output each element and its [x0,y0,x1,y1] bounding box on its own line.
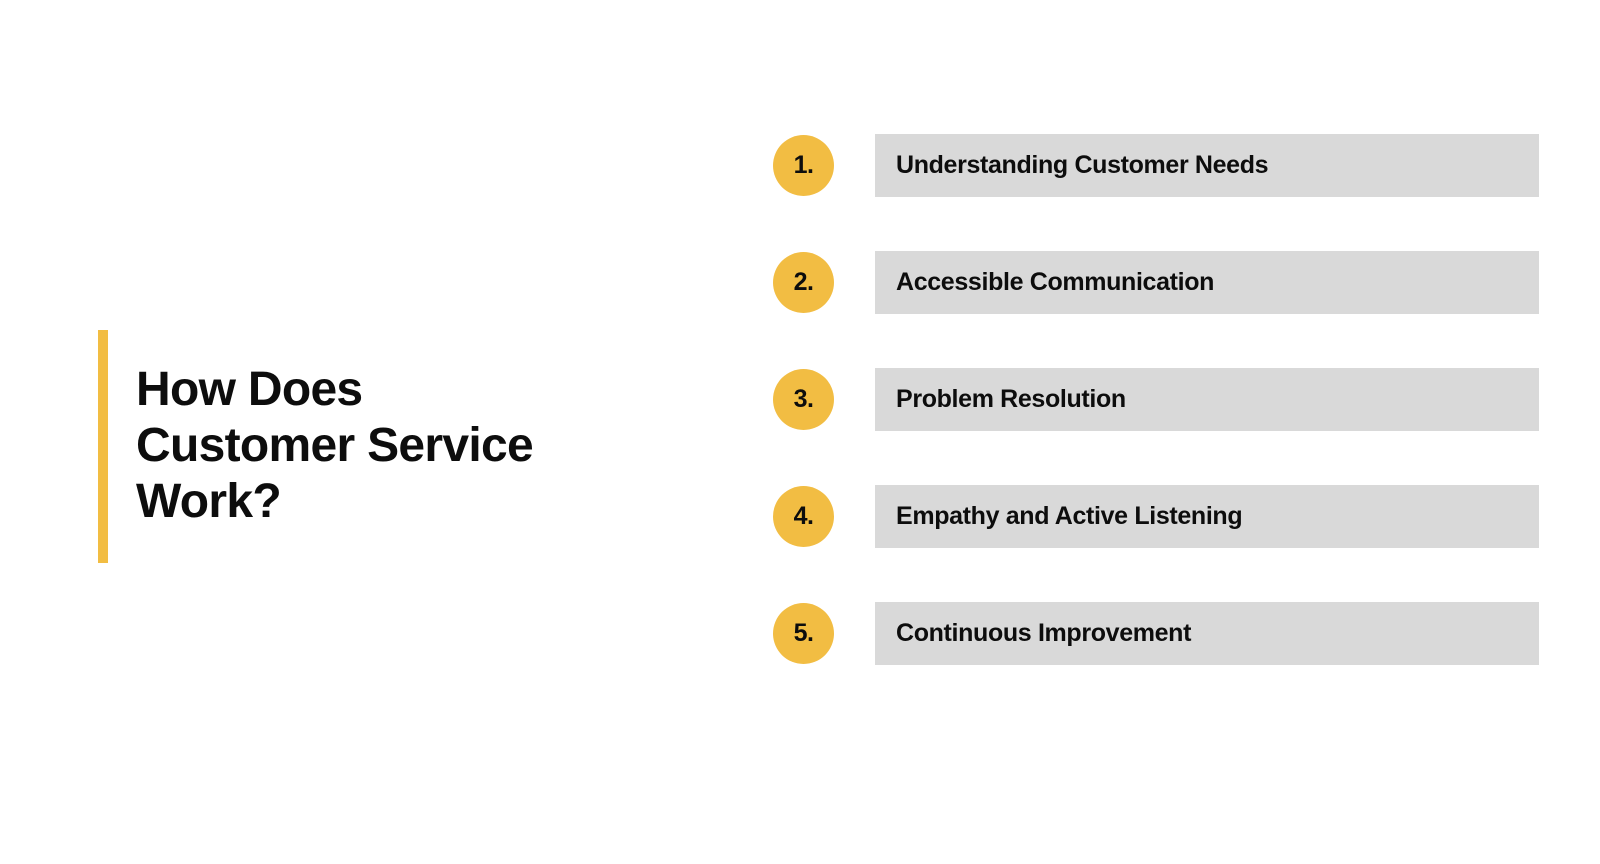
step-number-badge: 4. [773,486,834,547]
step-label: Continuous Improvement [875,620,1209,648]
step-number-label: 1. [794,153,814,178]
step-number-badge: 1. [773,135,834,196]
title-block: How Does Customer Service Work? [98,330,533,563]
step-number-label: 2. [794,270,814,295]
step-label: Accessible Communication [875,269,1232,297]
step-number-badge: 2. [773,252,834,313]
list-item[interactable]: 2. Accessible Communication [773,251,1539,314]
step-bar[interactable]: Continuous Improvement [875,602,1539,665]
step-label: Understanding Customer Needs [875,152,1286,180]
slide-canvas: How Does Customer Service Work? 1. Under… [0,0,1600,864]
step-number-label: 5. [794,621,814,646]
step-label: Empathy and Active Listening [875,503,1260,531]
step-bar[interactable]: Understanding Customer Needs [875,134,1539,197]
step-number-badge: 3. [773,369,834,430]
list-item[interactable]: 3. Problem Resolution [773,368,1539,431]
step-number-label: 4. [794,504,814,529]
accent-bar [98,330,108,563]
list-item[interactable]: 1. Understanding Customer Needs [773,134,1539,197]
step-number-badge: 5. [773,603,834,664]
page-title: How Does Customer Service Work? [136,362,533,530]
list-item[interactable]: 4. Empathy and Active Listening [773,485,1539,548]
steps-list: 1. Understanding Customer Needs 2. Acces… [773,134,1539,665]
list-item[interactable]: 5. Continuous Improvement [773,602,1539,665]
step-bar[interactable]: Accessible Communication [875,251,1539,314]
step-number-label: 3. [794,387,814,412]
step-bar[interactable]: Empathy and Active Listening [875,485,1539,548]
step-bar[interactable]: Problem Resolution [875,368,1539,431]
step-label: Problem Resolution [875,386,1144,414]
